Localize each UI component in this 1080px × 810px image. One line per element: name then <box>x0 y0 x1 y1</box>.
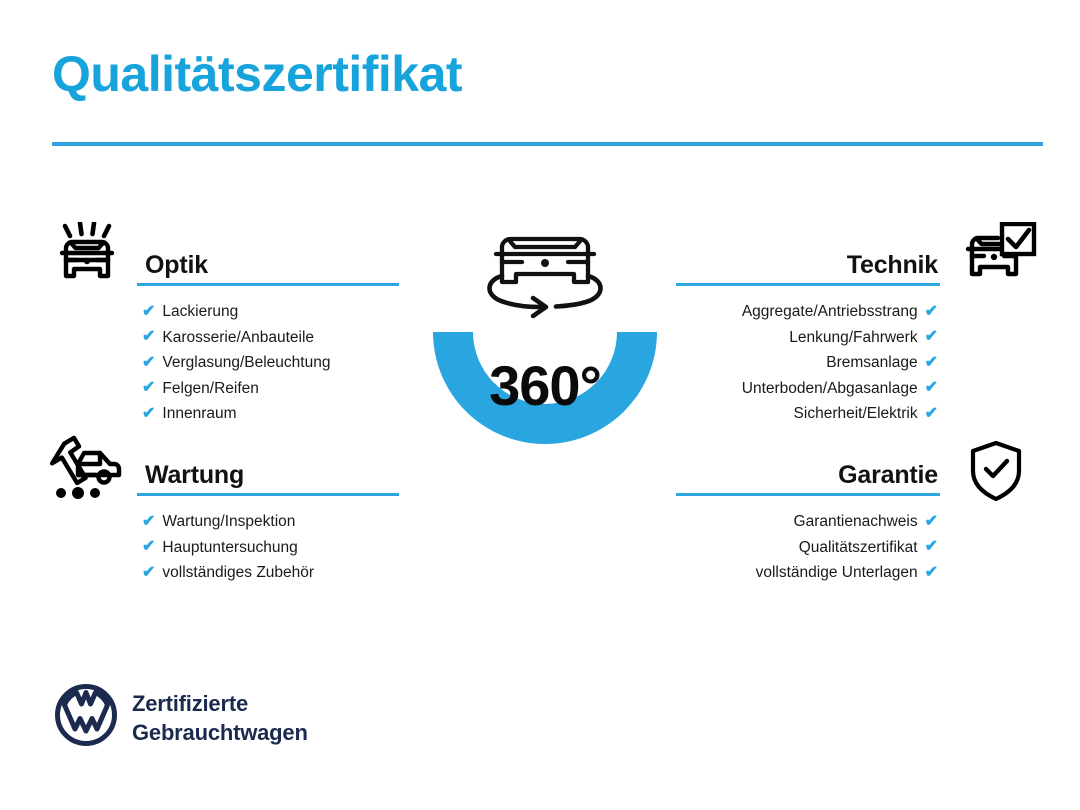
footer-line-2: Gebrauchtwagen <box>132 718 308 747</box>
section-garantie: Garantie Garantienachweis✔ Qualitätszert… <box>676 452 940 586</box>
checklist-technik: Aggregate/Antriebsstrang✔ Lenkung/Fahrwe… <box>676 286 940 427</box>
section-title-optik: Optik <box>145 251 208 280</box>
badge-360-gebrauchtwagen-check: Gebrauchtwagen-Check <box>405 208 685 508</box>
list-item: ✔vollständiges Zubehör <box>142 560 399 586</box>
footer-brand-lockup: Zertifizierte Gebrauchtwagen <box>55 684 308 751</box>
list-item-label: vollständige Unterlagen <box>756 560 918 586</box>
list-item-label: Qualitätszertifikat <box>799 535 918 561</box>
list-item-label: Bremsanlage <box>826 350 917 376</box>
list-item: ✔Felgen/Reifen <box>142 376 399 402</box>
section-title-technik: Technik <box>847 251 938 280</box>
car-360-rotate-icon <box>490 239 601 316</box>
list-item: ✔Wartung/Inspektion <box>142 509 399 535</box>
list-item: Sicherheit/Elektrik✔ <box>676 401 938 427</box>
list-item-label: Felgen/Reifen <box>162 376 259 402</box>
check-icon: ✔ <box>142 514 155 530</box>
check-icon: ✔ <box>925 304 938 320</box>
section-header: Optik <box>137 242 399 286</box>
vw-logo <box>55 684 117 751</box>
list-item: ✔Verglasung/Beleuchtung <box>142 350 399 376</box>
section-wartung: Wartung ✔Wartung/Inspektion ✔Hauptunters… <box>137 452 399 586</box>
certificate-page: Qualitätszertifikat <box>0 0 1080 810</box>
shield-check-icon <box>968 440 1024 507</box>
check-icon: ✔ <box>142 565 155 581</box>
header-divider <box>52 142 1043 146</box>
list-item: ✔Hauptuntersuchung <box>142 535 399 561</box>
list-item-label: Lackierung <box>162 299 238 325</box>
list-item-label: Innenraum <box>162 401 236 427</box>
list-item-label: vollständiges Zubehör <box>162 560 314 586</box>
section-technik: Technik Aggregate/Antriebsstrang✔ Lenkun… <box>676 242 940 427</box>
car-service-tool-icon <box>48 434 128 507</box>
badge-center-value: 360° <box>405 358 685 414</box>
list-item: vollständige Unterlagen✔ <box>676 560 938 586</box>
section-underline <box>676 283 940 286</box>
check-icon: ✔ <box>142 355 155 371</box>
check-icon: ✔ <box>142 329 155 345</box>
footer-line-1: Zertifizierte <box>132 689 308 718</box>
list-item: Bremsanlage✔ <box>676 350 938 376</box>
page-title: Qualitätszertifikat <box>52 48 462 101</box>
footer-brand-text: Zertifizierte Gebrauchtwagen <box>132 689 308 747</box>
section-underline <box>137 493 399 496</box>
list-item-label: Unterboden/Abgasanlage <box>742 376 918 402</box>
check-icon: ✔ <box>142 539 155 555</box>
section-header: Wartung <box>137 452 399 496</box>
check-icon: ✔ <box>142 304 155 320</box>
check-icon: ✔ <box>925 514 938 530</box>
section-title-wartung: Wartung <box>145 461 244 490</box>
section-header: Garantie <box>676 452 940 496</box>
check-icon: ✔ <box>925 406 938 422</box>
list-item-label: Lenkung/Fahrwerk <box>789 325 917 351</box>
section-underline <box>676 493 940 496</box>
checklist-garantie: Garantienachweis✔ Qualitätszertifikat✔ v… <box>676 496 940 586</box>
list-item-label: Hauptuntersuchung <box>162 535 297 561</box>
check-icon: ✔ <box>925 565 938 581</box>
list-item-label: Sicherheit/Elektrik <box>794 401 918 427</box>
section-header: Technik <box>676 242 940 286</box>
car-shine-icon <box>50 222 124 293</box>
list-item-label: Verglasung/Beleuchtung <box>162 350 330 376</box>
list-item-label: Wartung/Inspektion <box>162 509 295 535</box>
list-item-label: Garantienachweis <box>794 509 918 535</box>
check-icon: ✔ <box>925 355 938 371</box>
list-item-label: Aggregate/Antriebsstrang <box>742 299 918 325</box>
list-item: Garantienachweis✔ <box>676 509 938 535</box>
section-optik: Optik ✔Lackierung ✔Karosserie/Anbauteile… <box>137 242 399 427</box>
list-item: Lenkung/Fahrwerk✔ <box>676 325 938 351</box>
list-item: Unterboden/Abgasanlage✔ <box>676 376 938 402</box>
check-icon: ✔ <box>925 539 938 555</box>
list-item: ✔Lackierung <box>142 299 399 325</box>
check-icon: ✔ <box>925 380 938 396</box>
check-icon: ✔ <box>142 406 155 422</box>
checklist-optik: ✔Lackierung ✔Karosserie/Anbauteile ✔Verg… <box>137 286 399 427</box>
section-title-garantie: Garantie <box>838 461 938 490</box>
list-item: ✔Innenraum <box>142 401 399 427</box>
car-checkbox-icon <box>962 222 1038 293</box>
list-item: ✔Karosserie/Anbauteile <box>142 325 399 351</box>
section-underline <box>137 283 399 286</box>
list-item: Aggregate/Antriebsstrang✔ <box>676 299 938 325</box>
list-item-label: Karosserie/Anbauteile <box>162 325 314 351</box>
check-icon: ✔ <box>925 329 938 345</box>
checklist-wartung: ✔Wartung/Inspektion ✔Hauptuntersuchung ✔… <box>137 496 399 586</box>
check-icon: ✔ <box>142 380 155 396</box>
list-item: Qualitätszertifikat✔ <box>676 535 938 561</box>
